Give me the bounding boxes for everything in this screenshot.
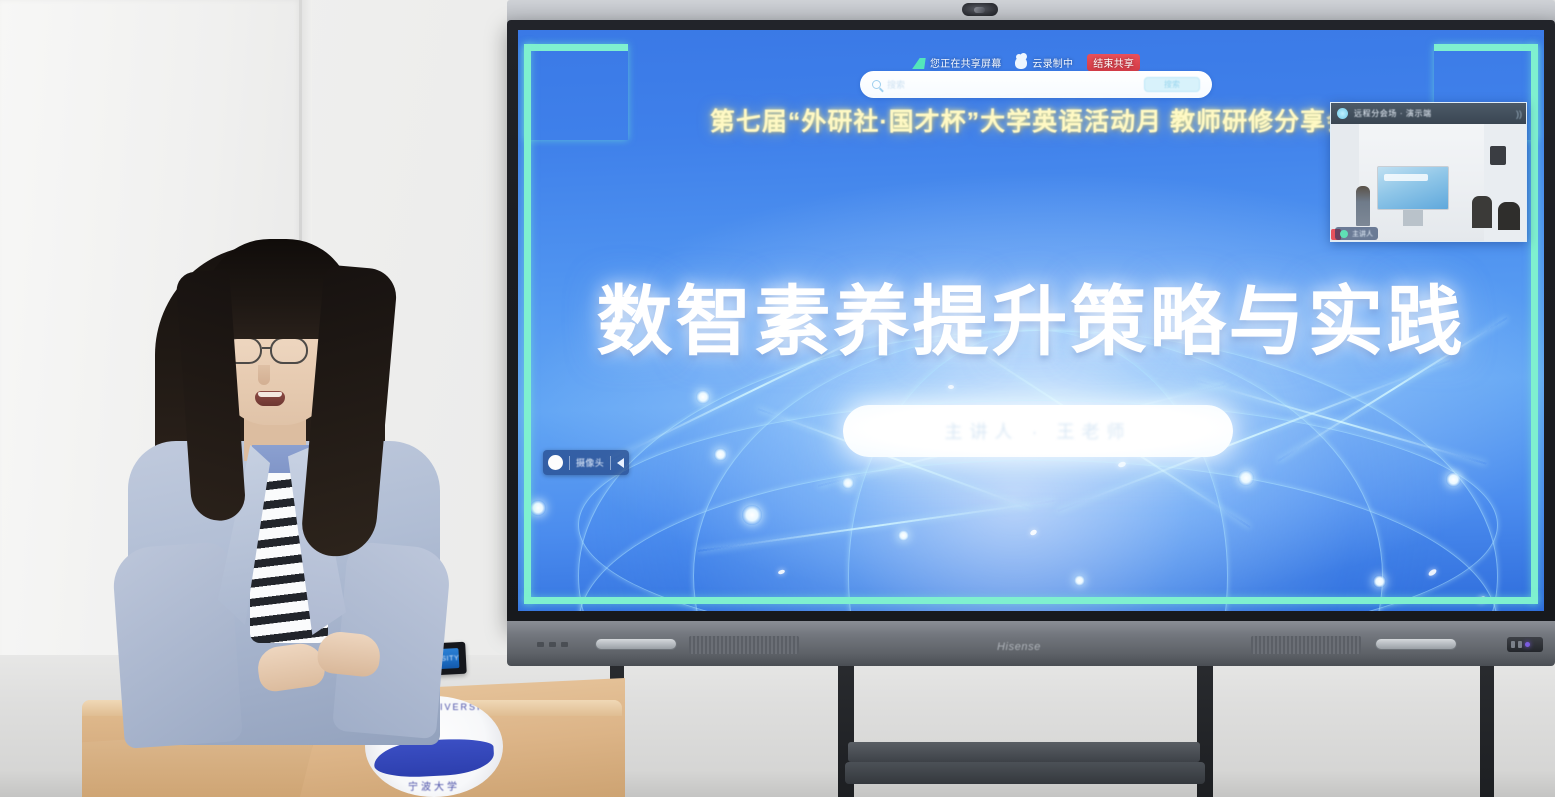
webcam-icon bbox=[962, 3, 998, 16]
display-screen[interactable]: 您正在共享屏幕 云录制中 结束共享 搜索 bbox=[518, 30, 1544, 611]
display-bottom-bezel: Hisense bbox=[507, 621, 1555, 666]
speaker-dot-icon bbox=[1340, 230, 1348, 238]
remote-audience-2 bbox=[1498, 202, 1520, 230]
remote-video-window[interactable]: 远程分会场 · 演示端 )) bbox=[1330, 102, 1527, 242]
toolbar-label-stop-share: 结束共享 bbox=[1093, 55, 1134, 70]
toolbar-item-share-screen[interactable]: 您正在共享屏幕 bbox=[913, 55, 1001, 70]
remote-audience-1 bbox=[1472, 196, 1492, 228]
toolbar-item-stop-share[interactable]: 结束共享 bbox=[1087, 54, 1140, 71]
share-screen-icon bbox=[912, 57, 926, 69]
presentation-slide: 您正在共享屏幕 云录制中 结束共享 搜索 bbox=[518, 30, 1544, 611]
network-node-10 bbox=[1373, 575, 1386, 588]
tv-stand-rail-lower bbox=[845, 762, 1205, 784]
network-node-7 bbox=[898, 530, 909, 541]
search-button[interactable]: 搜索 bbox=[1144, 77, 1200, 92]
control-divider-2 bbox=[610, 456, 611, 470]
presenter-mouth bbox=[255, 391, 285, 406]
display-body: 您正在共享屏幕 云录制中 结束共享 搜索 bbox=[507, 20, 1555, 626]
remote-badge-label: 主讲人 bbox=[1352, 229, 1373, 239]
slide-border-bottom bbox=[524, 597, 1538, 604]
search-icon bbox=[872, 80, 881, 89]
tv-mount-arm-far-right bbox=[1480, 646, 1494, 797]
bezel-indicator-dots bbox=[537, 642, 568, 647]
toolbar-item-cloud-record[interactable]: 云录制中 bbox=[1015, 55, 1073, 70]
speaker-grille-right bbox=[1251, 636, 1361, 654]
signal-icon: )) bbox=[1516, 109, 1522, 119]
conference-toolbar[interactable]: 您正在共享屏幕 云录制中 结束共享 bbox=[913, 54, 1140, 71]
remote-wall-device bbox=[1490, 146, 1506, 165]
toolbar-label-share: 您正在共享屏幕 bbox=[930, 55, 1001, 70]
presenter bbox=[100, 245, 460, 745]
presenter-glasses-bridge bbox=[262, 347, 272, 349]
slide-search-bar[interactable]: 搜索 搜索 bbox=[860, 71, 1212, 98]
room-scene: 您正在共享屏幕 云录制中 结束共享 搜索 bbox=[0, 0, 1555, 797]
network-node-4 bbox=[842, 477, 854, 489]
remote-avatar bbox=[1337, 108, 1348, 119]
speaker-grille-left bbox=[689, 636, 799, 654]
slide-presenter-name: 主讲人 · 王老师 bbox=[945, 418, 1132, 444]
interactive-display[interactable]: 您正在共享屏幕 云录制中 结束共享 搜索 bbox=[507, 0, 1555, 646]
video-control-overlay[interactable]: 摄像头 bbox=[543, 450, 629, 475]
video-control-label: 摄像头 bbox=[576, 456, 604, 469]
display-brand-logo: Hisense bbox=[997, 641, 1041, 653]
remote-speaker-badge: 主讲人 bbox=[1335, 227, 1378, 240]
network-node-6 bbox=[530, 500, 546, 516]
remote-room-view: 主讲人 bbox=[1331, 124, 1527, 242]
network-node-9 bbox=[696, 390, 710, 404]
ir-receiver-icon bbox=[1507, 637, 1543, 652]
network-node-3 bbox=[1238, 470, 1254, 486]
cloud-record-icon bbox=[1015, 57, 1027, 69]
slide-main-title: 数智素养提升策略与实践 bbox=[518, 260, 1544, 370]
remote-video-header: 远程分会场 · 演示端 )) bbox=[1331, 103, 1527, 124]
remote-wall-left bbox=[1331, 124, 1359, 242]
remote-video-title: 远程分会场 · 演示端 bbox=[1354, 108, 1510, 119]
network-node-8 bbox=[1074, 575, 1085, 586]
remote-screen-stand bbox=[1403, 210, 1423, 226]
search-input[interactable]: 搜索 bbox=[887, 78, 1138, 91]
remote-presenter bbox=[1356, 186, 1370, 226]
control-divider bbox=[569, 456, 570, 470]
network-node-1 bbox=[742, 505, 762, 525]
toolbar-label-record: 云录制中 bbox=[1032, 55, 1073, 70]
bezel-button-left[interactable] bbox=[595, 638, 677, 650]
tv-stand-rail-upper bbox=[848, 742, 1200, 762]
chevron-left-icon[interactable] bbox=[617, 458, 624, 468]
presenter-glasses-right bbox=[270, 337, 308, 364]
seal-chinese-text: 宁波大学 bbox=[365, 778, 503, 793]
network-spark-5 bbox=[948, 385, 954, 389]
bezel-button-right[interactable] bbox=[1375, 638, 1457, 650]
presenter-arm-left bbox=[111, 541, 243, 749]
network-node-5 bbox=[1446, 472, 1461, 487]
remote-screen bbox=[1377, 166, 1449, 210]
presenter-nose bbox=[258, 365, 270, 385]
slide-presenter-pill: 主讲人 · 王老师 bbox=[843, 405, 1233, 457]
network-node-2 bbox=[714, 448, 727, 461]
video-toggle-icon[interactable] bbox=[548, 455, 563, 470]
